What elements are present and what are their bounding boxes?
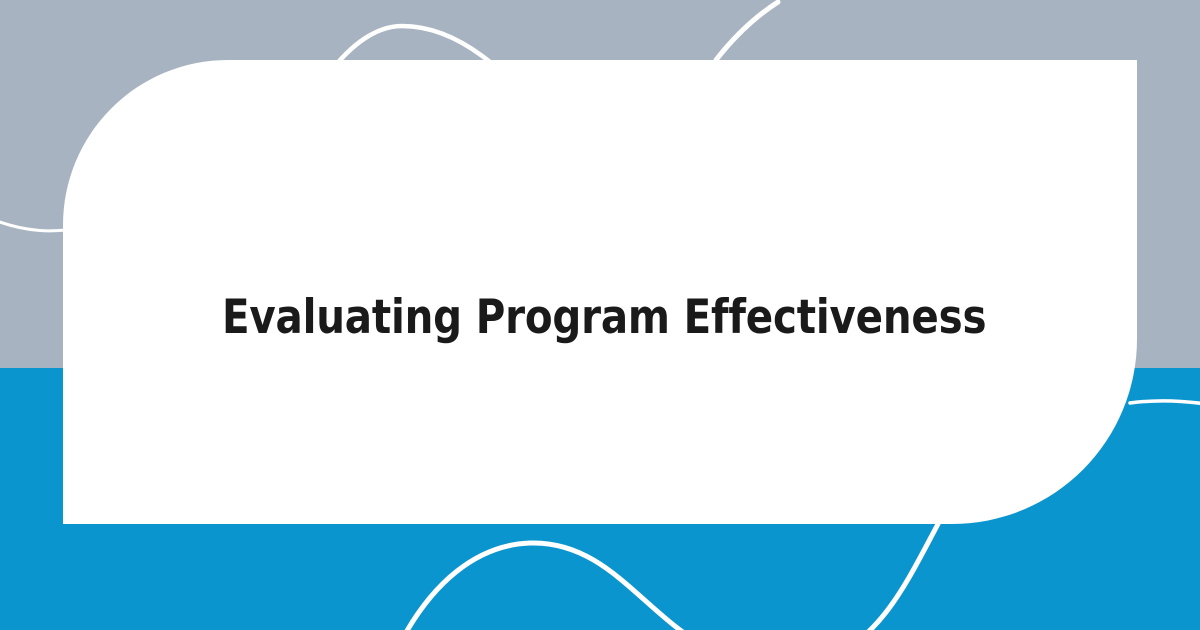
page-title: Evaluating Program Effectiveness bbox=[222, 293, 986, 342]
title-container: Evaluating Program Effectiveness bbox=[222, 288, 1042, 348]
banner-canvas: Evaluating Program Effectiveness bbox=[0, 0, 1200, 630]
